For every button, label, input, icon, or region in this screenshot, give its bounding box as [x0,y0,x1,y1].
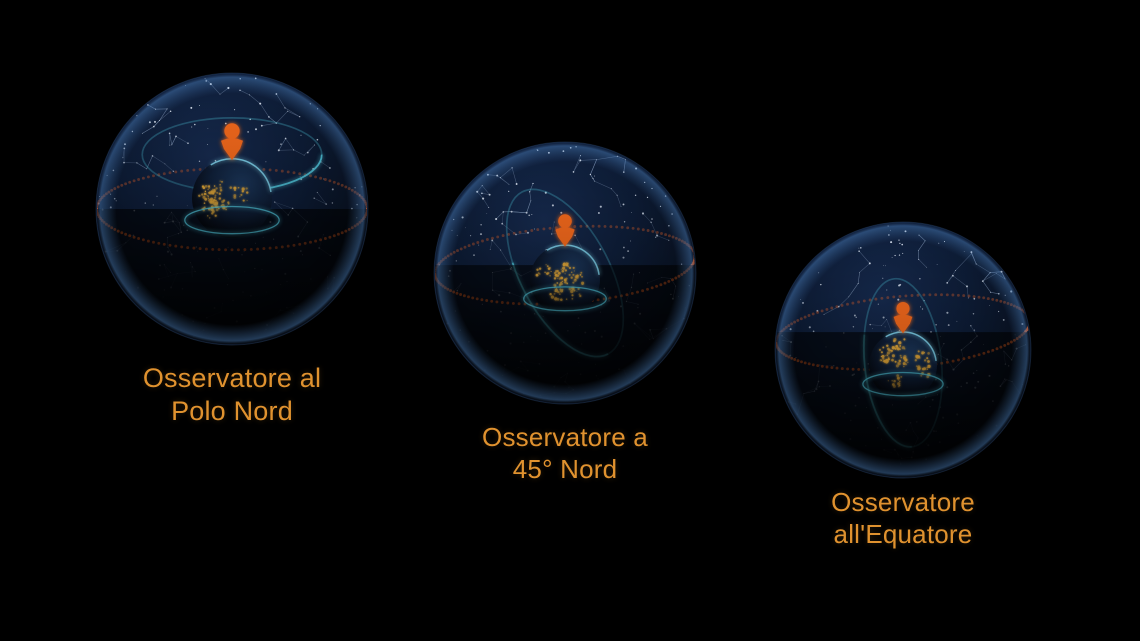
observer-label-equator: Osservatore all'Equatore [703,487,1103,550]
sphere-rim-glow [96,73,368,345]
horizon-ring-dot [1028,320,1031,323]
celestial-sphere-lat-45-north [434,142,697,449]
horizon-ring-dot [1028,318,1031,321]
celestial-sphere-equator [775,222,1032,511]
horizon-ring-dot [1028,316,1031,319]
sphere-rim-glow [434,142,696,404]
observer-label-north-pole: Osservatore al Polo Nord [32,362,432,428]
sphere-rim-glow [775,222,1031,478]
diagram-canvas: Osservatore al Polo NordOsservatore a 45… [0,0,1140,641]
horizon-ring-dot [1028,321,1031,324]
observer-label-lat-45-north: Osservatore a 45° Nord [365,422,765,485]
celestial-sphere-north-pole [95,73,369,399]
